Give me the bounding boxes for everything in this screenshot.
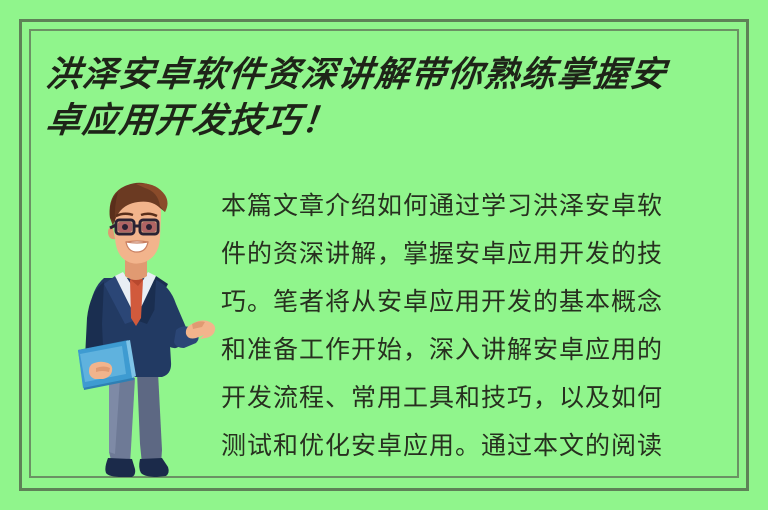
title-line-2: 卓应用开发技巧！ xyxy=(44,98,739,144)
body-paragraph: 本篇文章介绍如何通过学习洪泽安卓软 件的资深讲解，掌握安卓应用开发的技 巧。笔者… xyxy=(221,182,715,470)
body-line-4: 和准备工作开始，深入讲解安卓应用的 xyxy=(221,326,715,374)
body-line-6: 测试和优化安卓应用。通过本文的阅读 xyxy=(221,422,715,470)
title-line-1: 洪泽安卓软件资深讲解带你熟练掌握安 xyxy=(44,52,739,98)
body-line-2: 件的资深讲解，掌握安卓应用开发的技 xyxy=(221,230,715,278)
page-title: 洪泽安卓软件资深讲解带你熟练掌握安 卓应用开发技巧！ xyxy=(46,52,736,144)
body-line-5: 开发流程、常用工具和技巧，以及如何 xyxy=(221,374,715,422)
body-line-1: 本篇文章介绍如何通过学习洪泽安卓软 xyxy=(221,182,715,230)
poster-canvas: 洪泽安卓软件资深讲解带你熟练掌握安 卓应用开发技巧！ 本篇文章介绍如何通过学习洪… xyxy=(0,0,768,510)
body-line-3: 巧。笔者将从安卓应用开发的基本概念 xyxy=(221,278,715,326)
businessman-presenting-illustration xyxy=(52,172,220,484)
